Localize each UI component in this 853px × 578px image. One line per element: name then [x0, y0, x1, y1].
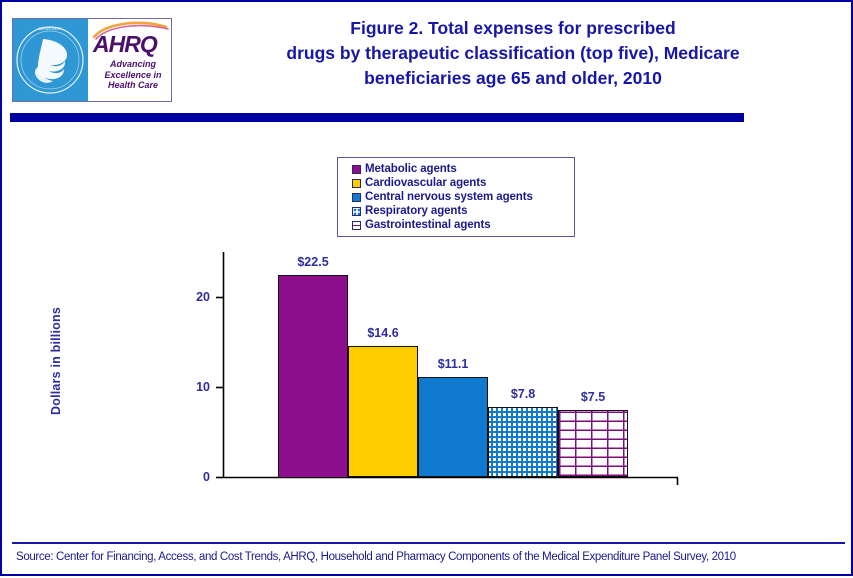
legend-item: Respiratory agents	[352, 204, 568, 218]
figure-title-line-3: beneficiaries age 65 and older, 2010	[198, 66, 828, 91]
legend-swatch-cns-icon	[352, 193, 361, 202]
legend-swatch-gastrointestinal-icon	[352, 221, 361, 230]
figure-title-line-1: Figure 2. Total expenses for prescribed	[198, 16, 828, 41]
legend-swatch-cardiovascular-icon	[352, 179, 361, 188]
bar-gastrointestinal-agents	[558, 410, 628, 478]
legend-swatch-respiratory-icon	[352, 207, 361, 216]
ahrq-tagline-line2: Excellence in	[94, 70, 171, 81]
ahrq-acronym-text: AHRQ	[93, 31, 157, 58]
hhs-seal-icon: DEPARTMENT	[13, 19, 88, 101]
bar-value-label-gastrointestinal: $7.5	[558, 390, 628, 404]
bar-value-label-cns: $11.1	[418, 357, 488, 371]
header-divider	[10, 113, 744, 122]
legend-label: Central nervous system agents	[365, 191, 533, 203]
bar-respiratory-agents	[488, 407, 558, 477]
bar-value-label-respiratory: $7.8	[488, 387, 558, 401]
legend-label: Respiratory agents	[365, 205, 467, 217]
chart-legend: Metabolic agents Cardiovascular agents C…	[337, 157, 575, 237]
y-tick-label-10: 10	[178, 380, 210, 394]
source-note: Source: Center for Financing, Access, an…	[16, 551, 846, 563]
figure-title-line-2: drugs by therapeutic classification (top…	[198, 41, 828, 66]
legend-item: Central nervous system agents	[352, 190, 568, 204]
legend-item: Metabolic agents	[352, 162, 568, 176]
y-tick-label-20: 20	[178, 290, 210, 304]
legend-label: Gastrointestinal agents	[365, 219, 491, 231]
legend-item: Cardiovascular agents	[352, 176, 568, 190]
ahrq-tagline: Advancing Excellence in Health Care	[94, 59, 171, 91]
figure-page: DEPARTMENT AHRQ Advancing Excellence in …	[0, 0, 853, 576]
legend-item: Gastrointestinal agents	[352, 218, 568, 232]
footer-divider	[12, 542, 845, 544]
bar-metabolic-agents	[278, 275, 348, 478]
bar-cardiovascular-agents	[348, 346, 418, 477]
y-tick-label-0: 0	[178, 470, 210, 484]
svg-text:DEPARTMENT: DEPARTMENT	[38, 27, 61, 31]
bar-value-label-metabolic: $22.5	[278, 255, 348, 269]
y-axis-title: Dollars in billions	[49, 291, 63, 431]
ahrq-wordmark: AHRQ Advancing Excellence in Health Care	[88, 19, 171, 101]
ahrq-tagline-line3: Health Care	[94, 80, 171, 91]
ahrq-tagline-line1: Advancing	[94, 59, 171, 70]
legend-label: Metabolic agents	[365, 163, 457, 175]
legend-swatch-metabolic-icon	[352, 165, 361, 174]
bar-value-label-cardiovascular: $14.6	[348, 326, 418, 340]
legend-label: Cardiovascular agents	[365, 177, 486, 189]
figure-title: Figure 2. Total expenses for prescribed …	[198, 16, 828, 91]
ahrq-hhs-logo: DEPARTMENT AHRQ Advancing Excellence in …	[12, 18, 172, 102]
bar-central-nervous-system-agents	[418, 377, 488, 477]
